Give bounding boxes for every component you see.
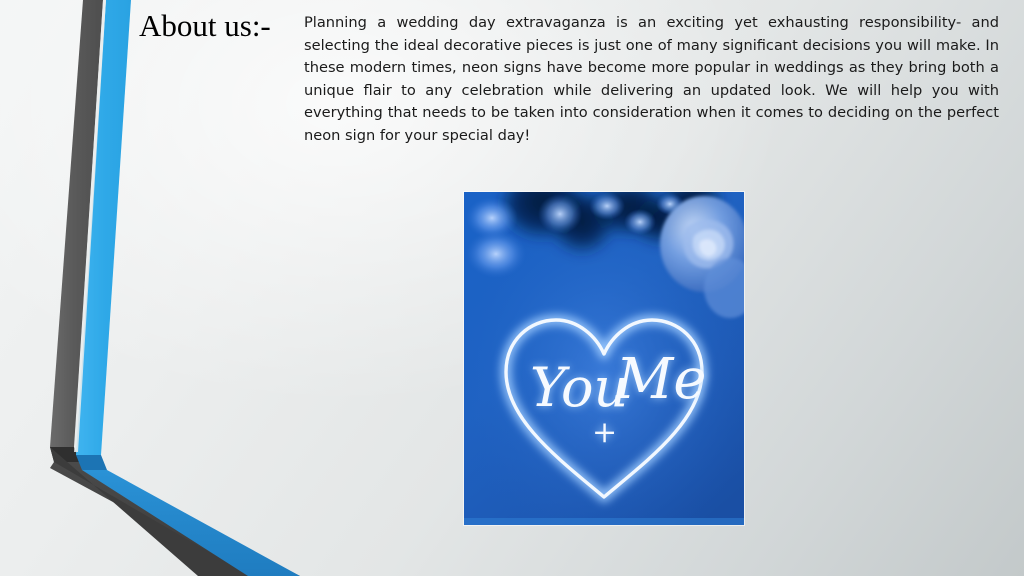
photo-bottom-band bbox=[464, 518, 744, 525]
neon-plus-text: + bbox=[592, 415, 617, 450]
page-title: About us:- bbox=[139, 6, 271, 46]
neon-you-text: You bbox=[530, 356, 628, 419]
chevron-decoration bbox=[0, 0, 300, 576]
neon-me-text: Me bbox=[615, 347, 706, 412]
neon-sign-photo: You Me + You Me + bbox=[464, 192, 744, 525]
slide-canvas: About us:- Planning a wedding day extrav… bbox=[0, 0, 1024, 576]
about-us-paragraph: Planning a wedding day extravaganza is a… bbox=[304, 12, 999, 148]
